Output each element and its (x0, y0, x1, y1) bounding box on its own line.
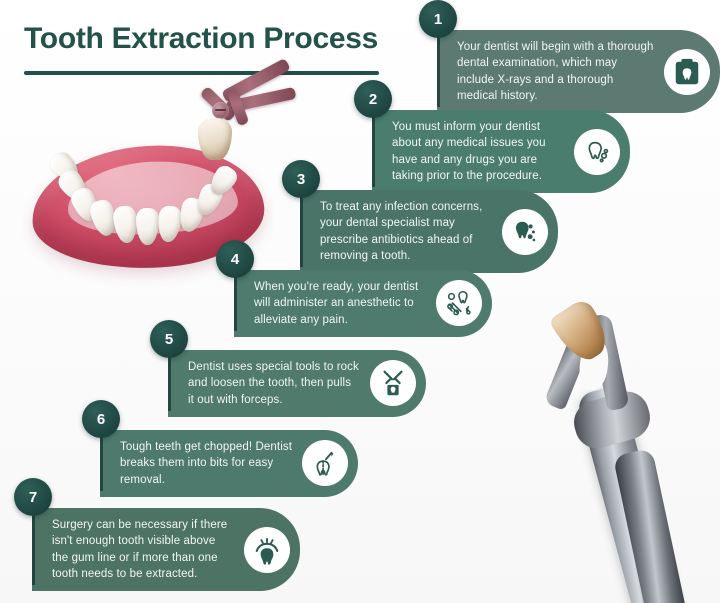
forceps-tooth-icon (370, 360, 416, 406)
step-number-badge: 1 (419, 0, 457, 38)
step-description: Surgery can be necessary if there isn't … (52, 517, 240, 582)
step-item-6[interactable]: 6 Tough teeth get chopped! Dentist break… (100, 430, 358, 497)
infected-tooth-icon (502, 209, 548, 255)
step-description: Tough teeth get chopped! Dentist breaks … (120, 439, 298, 488)
step-description: When you're ready, your dentist will adm… (254, 279, 432, 328)
step-description: Your dentist will begin with a thorough … (457, 39, 660, 104)
step-item-3[interactable]: 3 To treat any infection concerns, your … (300, 190, 558, 273)
title-block: Tooth Extraction Process (24, 22, 414, 75)
step-item-2[interactable]: 2 You must inform your dentist about any… (372, 110, 630, 193)
step-number-badge: 5 (150, 320, 188, 358)
page-title: Tooth Extraction Process (24, 22, 414, 57)
anesthetic-syringe-icon (436, 280, 482, 326)
tooth-sectioning-drill-icon (302, 440, 348, 486)
surgical-tooth-gum-icon (244, 527, 290, 573)
step-item-1[interactable]: 1 Your dentist will begin with a thoroug… (437, 30, 720, 113)
forceps-pivot-screw (212, 102, 229, 119)
hero-forceps-image (520, 300, 720, 603)
title-underline (24, 71, 379, 75)
step-number-badge: 7 (14, 478, 52, 516)
step-description: Dentist uses special tools to rock and l… (188, 359, 366, 408)
step-number-badge: 3 (282, 160, 320, 198)
step-item-4[interactable]: 4 When you're ready, your dentist will a… (234, 270, 492, 337)
step-number-badge: 2 (354, 80, 392, 118)
infographic-canvas: Tooth Extraction Process (0, 0, 720, 603)
model-forceps-image (176, 78, 288, 176)
tooth-medical-history-icon (574, 129, 620, 175)
step-item-5[interactable]: 5 Dentist uses special tools to rock and… (168, 350, 426, 417)
clipboard-tooth-icon (664, 49, 710, 95)
step-description: You must inform your dentist about any m… (392, 119, 570, 184)
extracted-molar (198, 118, 232, 160)
step-number-badge: 4 (216, 240, 254, 278)
step-description: To treat any infection concerns, your de… (320, 199, 498, 264)
step-number-badge: 6 (82, 400, 120, 438)
step-item-7[interactable]: 7 Surgery can be necessary if there isn'… (32, 508, 300, 591)
